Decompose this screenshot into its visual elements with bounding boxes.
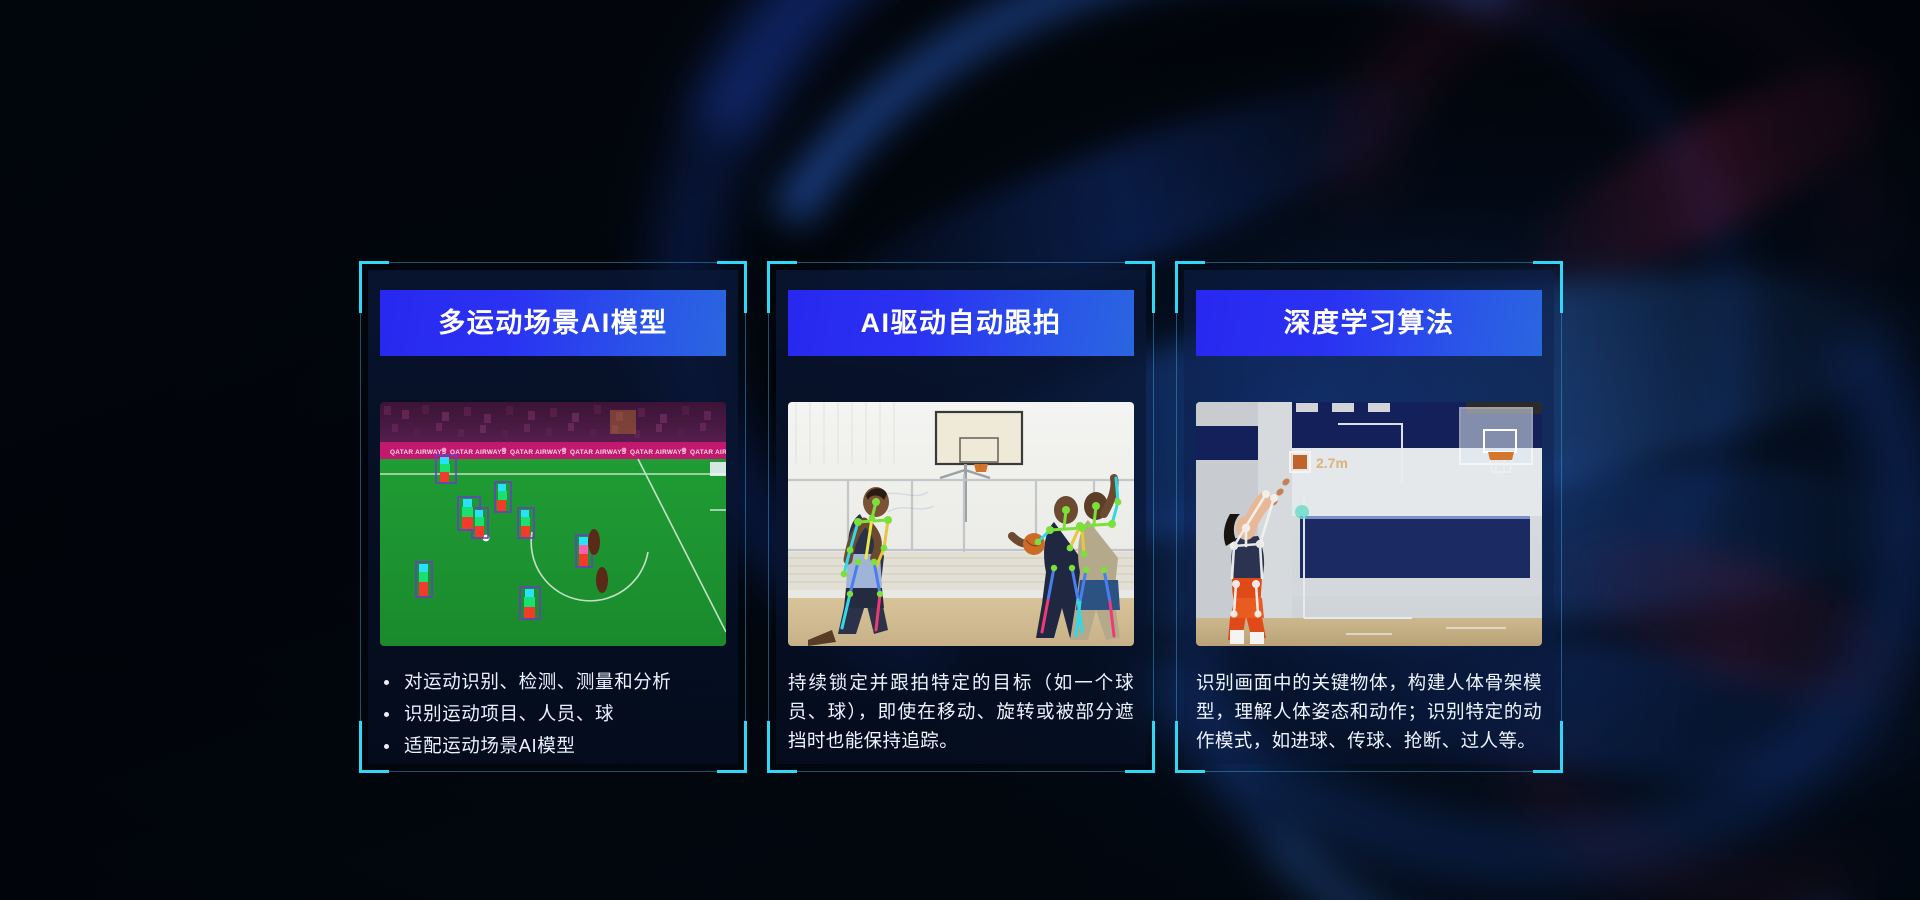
card-media-soccer-detection-image: QATAR AIRWAYSQATAR AIRWAYS QATAR AIRWAYS… [380, 402, 726, 646]
svg-text:QATAR AIRWAYS: QATAR AIRWAYS [570, 449, 627, 456]
feature-card-multi-sport-ai-model[interactable]: 多运动场景AI模型 [360, 262, 746, 772]
card-media-basketball-pose-image [788, 402, 1134, 646]
list-item: 识别运动项目、人员、球 [380, 700, 726, 728]
svg-text:QATAR AIRWAYS: QATAR AIRWAYS [450, 449, 507, 456]
feature-bullet-list: 对运动识别、检测、测量和分析 识别运动项目、人员、球 适配运动场景AI模型 [380, 668, 726, 760]
card-body: 持续锁定并跟拍特定的目标（如一个球员、球），即使在移动、旋转或被部分遮挡时也能保… [788, 668, 1134, 755]
card-description: 识别画面中的关键物体，构建人体骨架模型，理解人体姿态和动作；识别特定的动作模式，… [1196, 668, 1542, 755]
card-title: 深度学习算法 [1284, 310, 1455, 337]
feature-card-deep-learning-algorithm[interactable]: 深度学习算法 [1176, 262, 1562, 772]
card-body: 对运动识别、检测、测量和分析 识别运动项目、人员、球 适配运动场景AI模型 [380, 668, 726, 764]
list-item: 适配运动场景AI模型 [380, 732, 726, 760]
card-header-bar: 深度学习算法 [1196, 290, 1542, 356]
soccer-detection-illustration: QATAR AIRWAYSQATAR AIRWAYS QATAR AIRWAYS… [380, 402, 726, 646]
card-header-bar: 多运动场景AI模型 [380, 290, 726, 356]
shot-trajectory-illustration: 2.7m [1196, 402, 1542, 646]
card-media-basketball-shot-tracking-image: 2.7m [1196, 402, 1542, 646]
list-item: 对运动识别、检测、测量和分析 [380, 668, 726, 696]
distance-label: 2.7m [1316, 455, 1348, 471]
feature-card-ai-auto-tracking[interactable]: AI驱动自动跟拍 [768, 262, 1154, 772]
card-body: 识别画面中的关键物体，构建人体骨架模型，理解人体姿态和动作；识别特定的动作模式，… [1196, 668, 1542, 755]
card-title: 多运动场景AI模型 [438, 310, 668, 337]
svg-text:QATAR AIRWAYS: QATAR AIRWAYS [690, 449, 726, 456]
svg-text:QATAR AIRWAYS: QATAR AIRWAYS [630, 449, 687, 456]
card-description: 持续锁定并跟拍特定的目标（如一个球员、球），即使在移动、旋转或被部分遮挡时也能保… [788, 668, 1134, 755]
feature-card-group: 多运动场景AI模型 [0, 0, 1920, 900]
card-header-bar: AI驱动自动跟拍 [788, 290, 1134, 356]
svg-text:QATAR AIRWAYS: QATAR AIRWAYS [510, 449, 567, 456]
card-title: AI驱动自动跟拍 [861, 310, 1062, 337]
basketball-pose-illustration [788, 402, 1134, 646]
